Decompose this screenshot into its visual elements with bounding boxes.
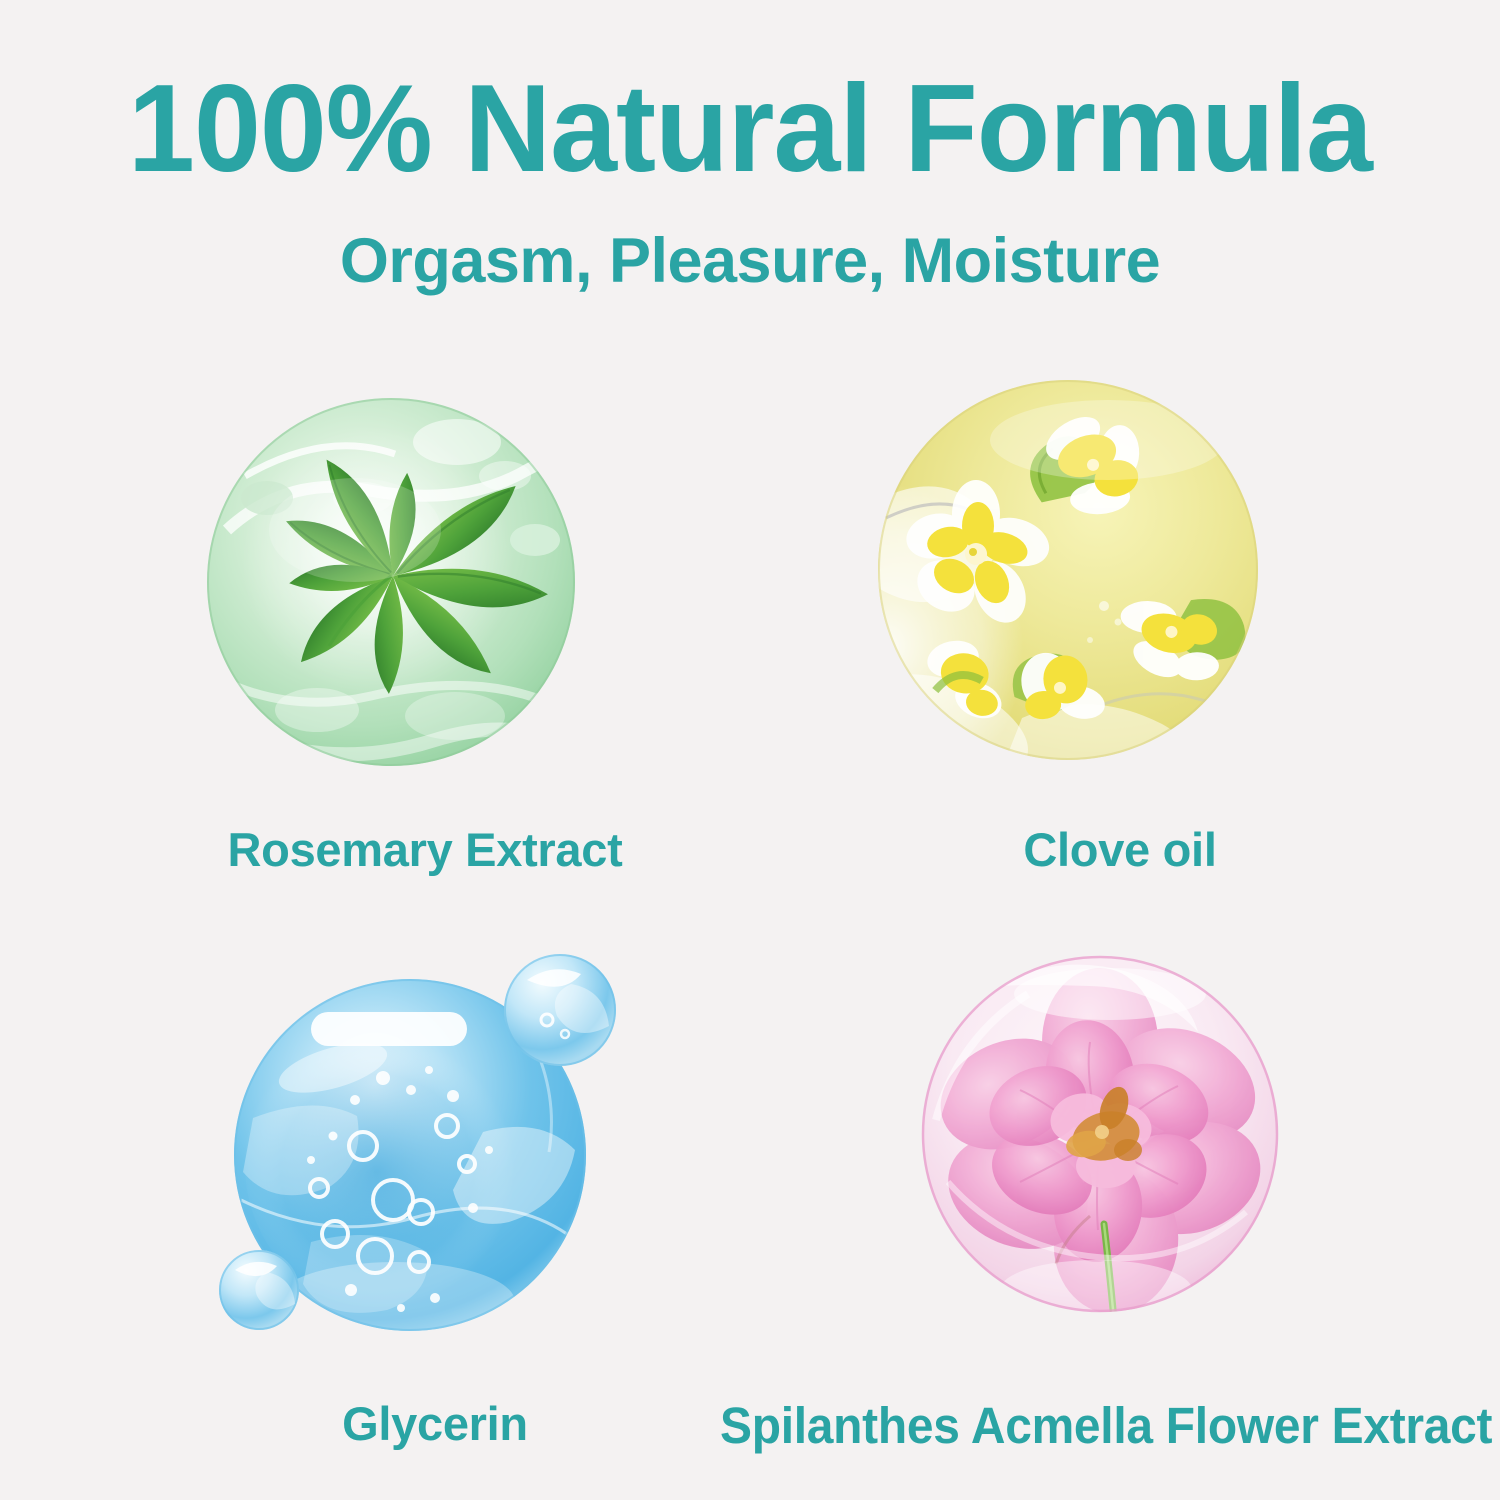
blue-water-droplet-icon — [215, 950, 645, 1340]
pink-flower-sphere-icon — [920, 950, 1290, 1330]
satellite-bubble-bottom — [219, 1250, 299, 1330]
page-subtitle: Orgasm, Pleasure, Moisture — [0, 228, 1500, 294]
yellow-gel-sphere-with-flowers-icon — [872, 378, 1272, 778]
satellite-bubble-top — [504, 954, 616, 1066]
ingredient-label-rosemary: Rosemary Extract — [105, 822, 745, 877]
page-title: 100% Natural Formula — [23, 66, 1478, 192]
infographic-canvas: 100% Natural Formula Orgasm, Pleasure, M… — [0, 0, 1500, 1500]
ingredient-item-spilanthes — [920, 950, 1290, 1330]
ingredient-label-clove: Clove oil — [800, 822, 1440, 877]
ingredient-label-glycerin: Glycerin — [115, 1396, 755, 1451]
ingredient-item-rosemary — [205, 380, 605, 800]
green-gel-sphere-with-leaves-icon — [205, 380, 605, 800]
ingredient-label-spilanthes: Spilanthes Acmella Flower Extract — [720, 1396, 1453, 1455]
ingredient-item-clove — [872, 378, 1272, 778]
ingredient-item-glycerin — [215, 950, 645, 1340]
